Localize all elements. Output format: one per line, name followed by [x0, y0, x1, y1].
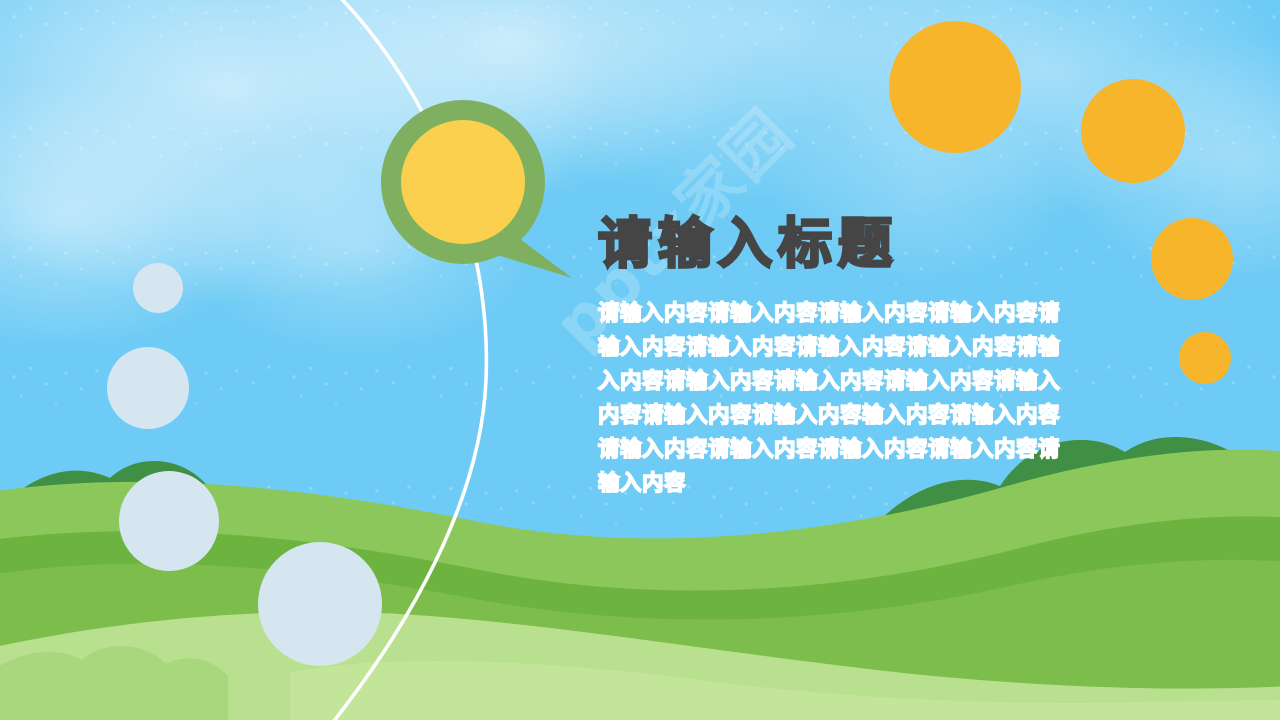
page-title: 请输入标题: [598, 216, 1078, 273]
text-content-block: 请输入标题 请输入内容请输入内容请输入内容请输入内容请输入内容请输入内容请输入内…: [598, 216, 1078, 501]
body-paragraph: 请输入内容请输入内容请输入内容请输入内容请输入内容请输入内容请输入内容请输入内容…: [598, 297, 1078, 501]
slide-canvas: pptx家园 请输入标题 请输入内容请输入内容请输入内容请输入内容请输入内容请输…: [0, 0, 1280, 720]
speech-bubble-inner-dot: [401, 120, 525, 244]
